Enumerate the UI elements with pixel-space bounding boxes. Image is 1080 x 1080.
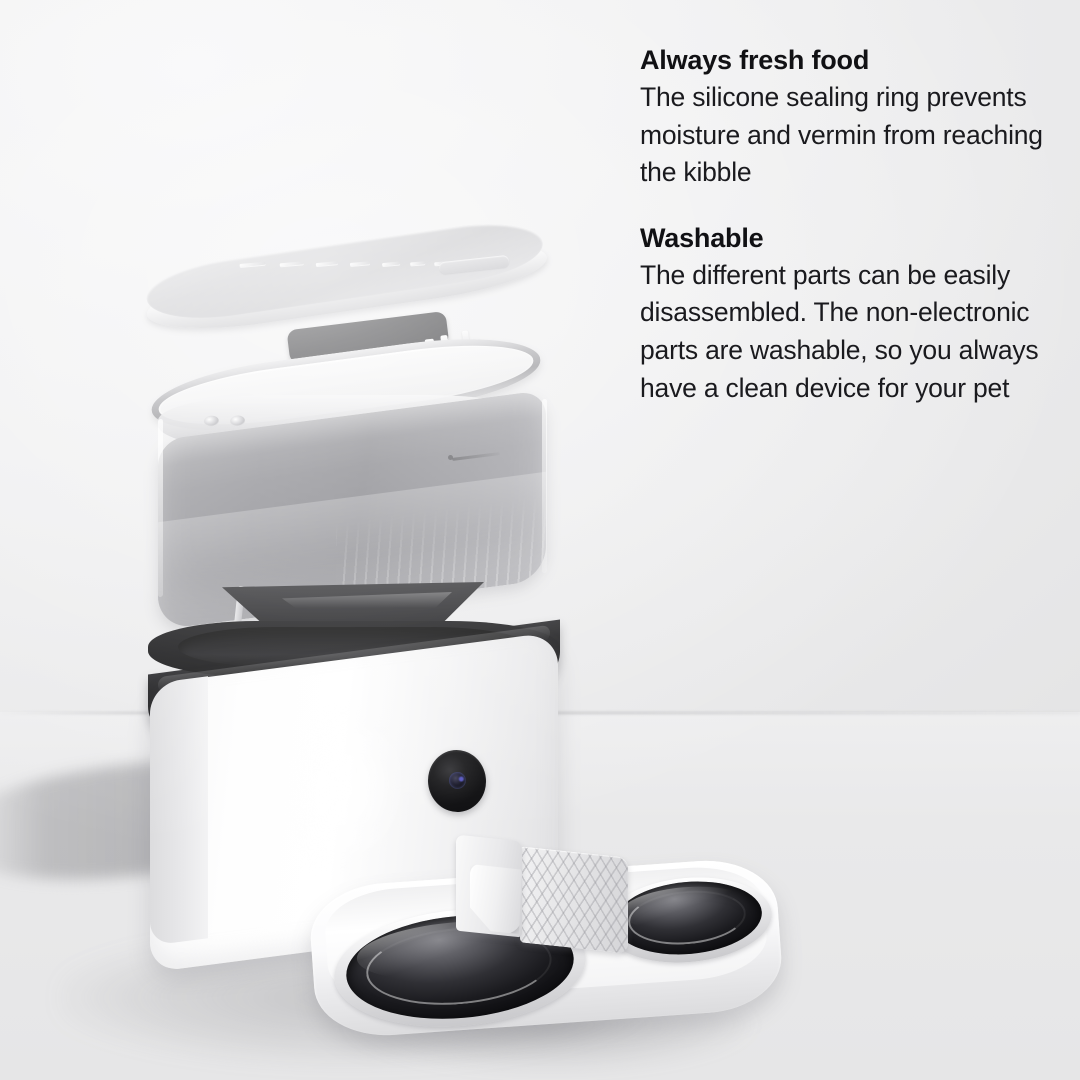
feature-heading: Washable	[640, 222, 1060, 255]
hopper-edge-right	[542, 399, 547, 574]
feature-block-washable: Washable The different parts can be easi…	[640, 222, 1060, 407]
feature-heading: Always fresh food	[640, 44, 1060, 77]
chute-textured-divider	[520, 846, 628, 953]
bowl-tray	[300, 838, 792, 1046]
hopper-edge-left	[158, 419, 163, 598]
body-left-panel	[150, 676, 208, 946]
lid-vent-dashes	[239, 241, 471, 292]
food-chute	[448, 838, 668, 958]
feature-body: The different parts can be easily disass…	[640, 257, 1060, 408]
feature-copy-column: Always fresh food The silicone sealing r…	[640, 44, 1060, 407]
feature-block-fresh-food: Always fresh food The silicone sealing r…	[640, 44, 1060, 192]
camera-lens	[448, 771, 467, 790]
product-image: − : 00 00 00 −	[0, 0, 1080, 1080]
feature-body: The silicone sealing ring prevents moist…	[640, 79, 1060, 192]
funnel-highlight	[282, 592, 452, 608]
pet-feeder-exploded-view: − : 00 00 00 −	[0, 0, 660, 1080]
